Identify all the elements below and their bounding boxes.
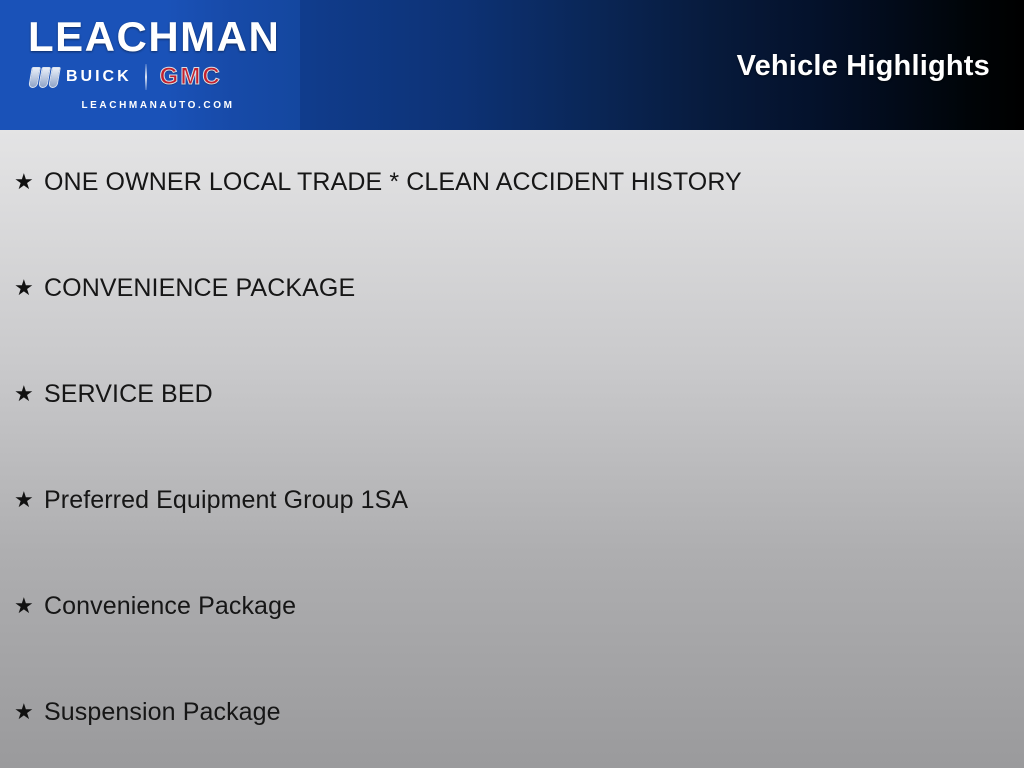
list-item: ★ Suspension Package: [0, 698, 1024, 768]
list-item: ★ CONVENIENCE PACKAGE: [0, 274, 1024, 380]
dealer-logo[interactable]: LEACHMAN BUICK GMC LEACHMANAUTO.COM: [0, 0, 300, 130]
vehicle-highlights-page: LEACHMAN BUICK GMC LEACHMANAUTO.COM Vehi…: [0, 0, 1024, 768]
buick-brand-label: BUICK: [66, 67, 132, 87]
list-item-label: Convenience Package: [44, 592, 1024, 620]
star-bullet-icon: ★: [14, 486, 44, 514]
star-bullet-icon: ★: [14, 592, 44, 620]
star-bullet-icon: ★: [14, 274, 44, 302]
page-header: LEACHMAN BUICK GMC LEACHMANAUTO.COM Vehi…: [0, 0, 1024, 130]
list-item: ★ Convenience Package: [0, 592, 1024, 698]
page-title: Vehicle Highlights: [737, 49, 990, 83]
list-item: ★ ONE OWNER LOCAL TRADE * CLEAN ACCIDENT…: [0, 168, 1024, 274]
buick-trishield-icon: [30, 67, 59, 88]
list-item-label: Suspension Package: [44, 698, 1024, 726]
star-bullet-icon: ★: [14, 698, 44, 726]
brand-divider: [145, 64, 147, 90]
list-item-label: ONE OWNER LOCAL TRADE * CLEAN ACCIDENT H…: [44, 168, 1024, 196]
brand-row: BUICK GMC: [30, 62, 286, 92]
list-item: ★ SERVICE BED: [0, 380, 1024, 486]
gmc-brand-label: GMC: [160, 64, 222, 90]
list-item: ★ Preferred Equipment Group 1SA: [0, 486, 1024, 592]
dealer-name-wordmark: LEACHMAN: [28, 14, 283, 60]
buick-brand-mark: BUICK: [30, 67, 132, 88]
list-item-label: CONVENIENCE PACKAGE: [44, 274, 1024, 302]
list-item-label: Preferred Equipment Group 1SA: [44, 486, 1024, 514]
dealer-website-url[interactable]: LEACHMANAUTO.COM: [30, 99, 286, 113]
list-item-label: SERVICE BED: [44, 380, 1024, 408]
star-bullet-icon: ★: [14, 380, 44, 408]
star-bullet-icon: ★: [14, 168, 44, 196]
vehicle-highlights-list: ★ ONE OWNER LOCAL TRADE * CLEAN ACCIDENT…: [0, 130, 1024, 768]
